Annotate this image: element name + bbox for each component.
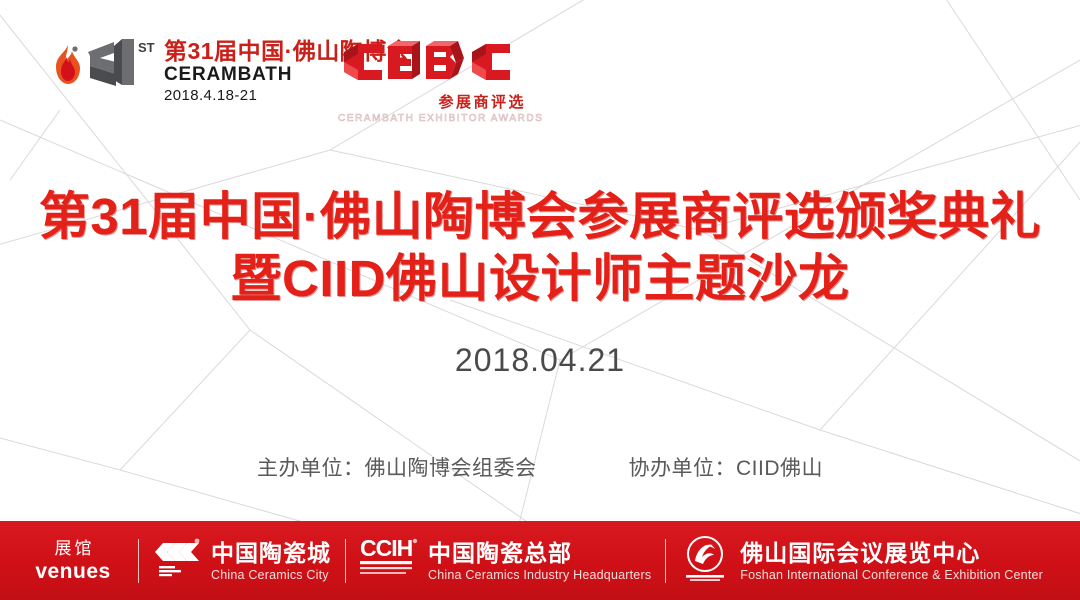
ccih-logo-icon: CCIH [360,534,418,587]
venue-ccih: CCIH 中国陶瓷总部 China Ceramics Industry Head… [346,534,665,587]
venues-section-label: 展馆 venues [8,538,138,584]
venue-name-cn-2: 中国陶瓷总部 [428,539,651,567]
venues-label-en: venues [8,560,138,584]
venue-text-1: 中国陶瓷城 China Ceramics City [211,539,331,583]
event-date: 2018.04.21 [0,342,1080,379]
venue-name-en-3: Foshan International Conference & Exhibi… [740,567,1043,583]
organizer-list: 主办单位：佛山陶博会组委会 协办单位：CIID佛山 [0,452,1080,482]
title-line-2: 暨CIID佛山设计师主题沙龙 [0,248,1080,310]
venue-name-cn-3: 佛山国际会议展览中心 [740,539,1043,567]
organizer-host: 主办单位：佛山陶博会组委会 [257,452,537,482]
venue-name-en-1: China Ceramics City [211,567,331,583]
flame-icon [52,44,82,88]
svg-text:ST: ST [138,40,155,55]
china-ceramics-city-logo-icon [153,535,201,586]
venue-name-en-2: China Ceramics Industry Headquarters [428,567,651,583]
awards-english-name: CERAMBATH EXHIBITOR AWARDS [338,112,528,126]
venue-text-3: 佛山国际会议展览中心 Foshan International Conferen… [740,539,1043,583]
venues-label-cn: 展馆 [8,538,138,560]
venue-text-2: 中国陶瓷总部 China Ceramics Industry Headquart… [428,539,651,583]
venue-china-ceramics-city: 中国陶瓷城 China Ceramics City [139,535,345,586]
awards-chinese-name: 参展商评选 [338,94,528,112]
anniversary-numeral-31: ST [84,36,156,90]
organizer-co-host: 协办单位：CIID佛山 [629,452,824,482]
exhibitor-awards-logo: 参展商评选 CERAMBATH EXHIBITOR AWARDS [338,34,528,126]
header: ST 第31届中国·佛山陶博会 CERAMBATH 2018.4.18-21 [0,0,1080,140]
title-line-1: 第31届中国·佛山陶博会参展商评选颁奖典礼 [0,186,1080,248]
cebc-wordmark-icon [338,34,528,94]
venue-name-cn-1: 中国陶瓷城 [211,539,331,567]
foshan-expo-center-logo-icon [680,533,730,588]
svg-text:CCIH: CCIH [360,535,413,561]
venues-footer: 展馆 venues [0,521,1080,600]
venue-foshan-expo-center: 佛山国际会议展览中心 Foshan International Conferen… [666,533,1057,588]
poster-canvas: ST 第31届中国·佛山陶博会 CERAMBATH 2018.4.18-21 [0,0,1080,600]
page-title: 第31届中国·佛山陶博会参展商评选颁奖典礼 暨CIID佛山设计师主题沙龙 [0,186,1080,310]
